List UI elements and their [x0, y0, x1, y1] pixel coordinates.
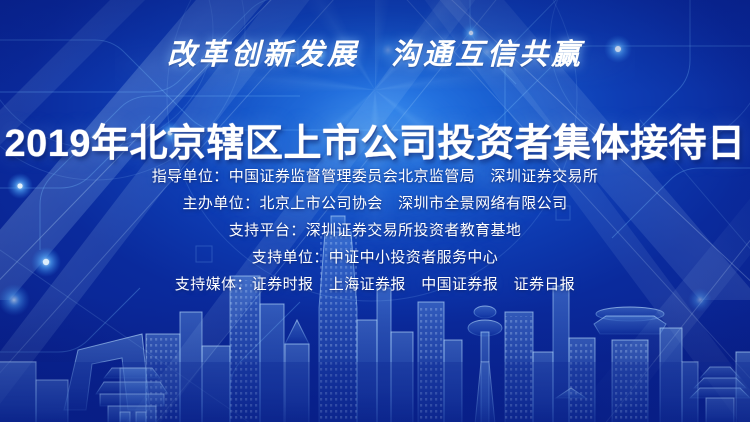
poster-tagline: 改革创新发展 沟通互信共赢 — [0, 40, 750, 69]
credit-line-support: 支持单位：中证中小投资者服务中心 — [252, 244, 498, 271]
poster-content: 改革创新发展 沟通互信共赢 2019年北京辖区上市公司投资者集体接待日 指导单位… — [0, 0, 750, 422]
credit-line-guidance: 指导单位：中国证券监督管理委员会北京监管局 深圳证券交易所 — [152, 163, 599, 190]
credit-line-media: 支持媒体：证券时报 上海证券报 中国证券报 证券日报 — [175, 271, 575, 298]
credit-line-organizer: 主办单位：北京上市公司协会 深圳市全景网络有限公司 — [182, 190, 567, 217]
event-poster: 改革创新发展 沟通互信共赢 2019年北京辖区上市公司投资者集体接待日 指导单位… — [0, 0, 750, 422]
credits-block: 指导单位：中国证券监督管理委员会北京监管局 深圳证券交易所 主办单位：北京上市公… — [0, 163, 750, 298]
page-title: 2019年北京辖区上市公司投资者集体接待日 — [0, 122, 750, 166]
credit-line-platform: 支持平台：深圳证券交易所投资者教育基地 — [229, 217, 522, 244]
